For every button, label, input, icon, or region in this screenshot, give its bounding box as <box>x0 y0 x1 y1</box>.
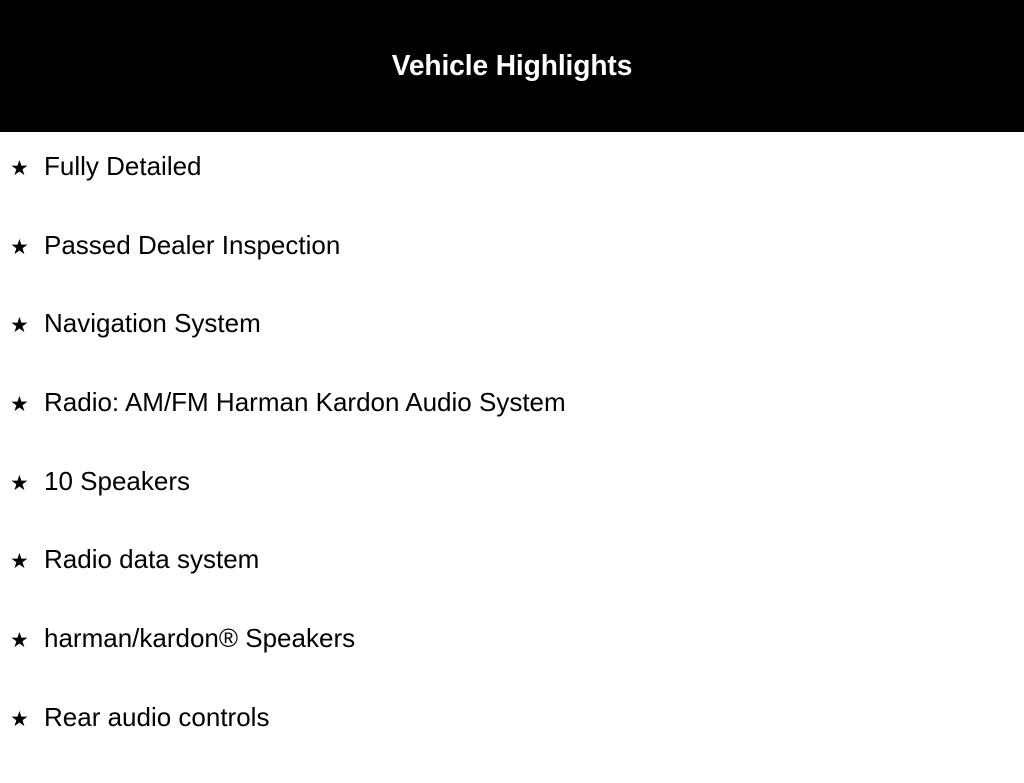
star-icon: ★ <box>10 237 28 258</box>
star-icon: ★ <box>10 473 28 494</box>
list-item: ★ Rear audio controls <box>0 704 1024 783</box>
star-icon: ★ <box>10 551 28 572</box>
star-icon: ★ <box>10 394 28 415</box>
list-item: ★ Radio: AM/FM Harman Kardon Audio Syste… <box>0 389 1024 468</box>
list-item: ★ Fully Detailed <box>0 132 1024 232</box>
highlight-label: Rear audio controls <box>44 704 269 730</box>
highlight-label: harman/kardon® Speakers <box>44 625 355 651</box>
list-item: ★ 10 Speakers <box>0 468 1024 547</box>
star-icon: ★ <box>10 709 28 730</box>
page-title: Vehicle Highlights <box>392 52 633 81</box>
star-icon: ★ <box>10 315 28 336</box>
list-item: ★ Radio data system <box>0 546 1024 625</box>
list-item: ★ Passed Dealer Inspection <box>0 232 1024 311</box>
star-icon: ★ <box>10 158 28 179</box>
header-banner: Vehicle Highlights <box>0 0 1024 132</box>
list-item: ★ Navigation System <box>0 310 1024 389</box>
highlight-label: Fully Detailed <box>44 153 202 179</box>
list-item: ★ harman/kardon® Speakers <box>0 625 1024 704</box>
highlight-label: Navigation System <box>44 310 261 336</box>
highlights-list: ★ Fully Detailed ★ Passed Dealer Inspect… <box>0 132 1024 783</box>
highlight-label: 10 Speakers <box>44 468 190 494</box>
highlight-label: Passed Dealer Inspection <box>44 232 340 258</box>
vehicle-highlights-page: Vehicle Highlights ★ Fully Detailed ★ Pa… <box>0 0 1024 768</box>
star-icon: ★ <box>10 630 28 651</box>
highlight-label: Radio data system <box>44 546 259 572</box>
highlight-label: Radio: AM/FM Harman Kardon Audio System <box>44 389 566 415</box>
